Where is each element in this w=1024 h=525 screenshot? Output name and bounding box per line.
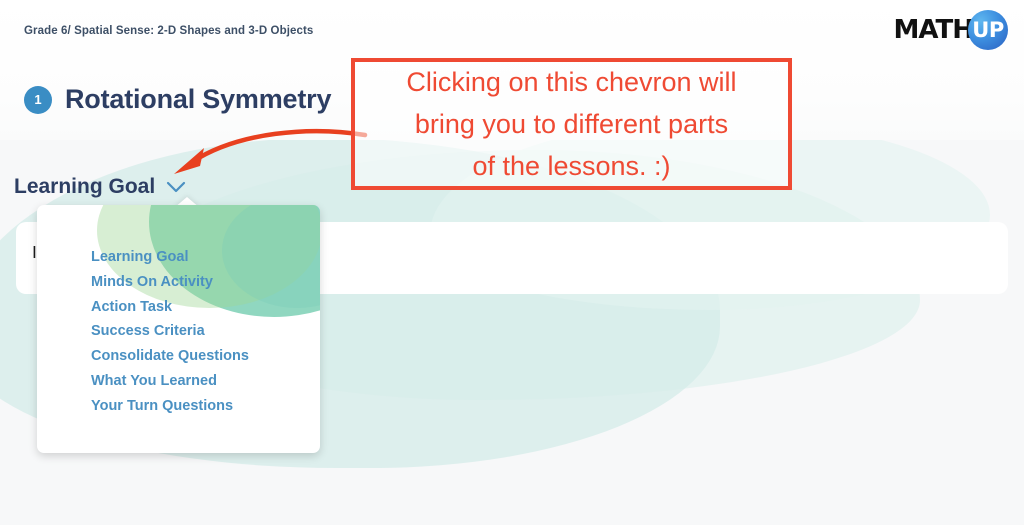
annotation-line-3: of the lessons. :) (472, 145, 670, 187)
mathup-logo: MATH UP (894, 10, 1008, 50)
page-title: Rotational Symmetry (65, 84, 331, 115)
section-title: Learning Goal (14, 175, 155, 199)
annotation-text: Clicking on this chevron will bring you … (355, 62, 788, 186)
breadcrumb: Grade 6/ Spatial Sense: 2-D Shapes and 3… (24, 25, 313, 37)
lesson-number-badge: 1 (24, 86, 52, 114)
chevron-down-icon[interactable] (165, 176, 187, 198)
annotation-line-2: bring you to different parts (415, 103, 728, 145)
logo-badge-circle: UP (968, 10, 1008, 50)
section-heading-row: Learning Goal (14, 175, 187, 199)
dropdown-item-what-you-learned[interactable]: What You Learned (91, 369, 320, 394)
dropdown-item-learning-goal[interactable]: Learning Goal (91, 245, 320, 270)
dropdown-item-list: Learning Goal Minds On Activity Action T… (91, 245, 320, 419)
dropdown-item-action-task[interactable]: Action Task (91, 295, 320, 320)
logo-badge-label: UP (972, 18, 1003, 42)
annotation-line-1: Clicking on this chevron will (406, 61, 736, 103)
dropdown-item-minds-on-activity[interactable]: Minds On Activity (91, 270, 320, 295)
lesson-title-row: 1 Rotational Symmetry (24, 84, 331, 115)
section-navigation-dropdown[interactable]: Learning Goal Minds On Activity Action T… (37, 205, 320, 453)
dropdown-item-consolidate-questions[interactable]: Consolidate Questions (91, 344, 320, 369)
logo-wordmark: MATH (894, 15, 973, 45)
lesson-page: Grade 6/ Spatial Sense: 2-D Shapes and 3… (0, 0, 1024, 525)
dropdown-item-success-criteria[interactable]: Success Criteria (91, 319, 320, 344)
dropdown-item-your-turn-questions[interactable]: Your Turn Questions (91, 394, 320, 419)
annotation-callout: Clicking on this chevron will bring you … (351, 58, 792, 190)
